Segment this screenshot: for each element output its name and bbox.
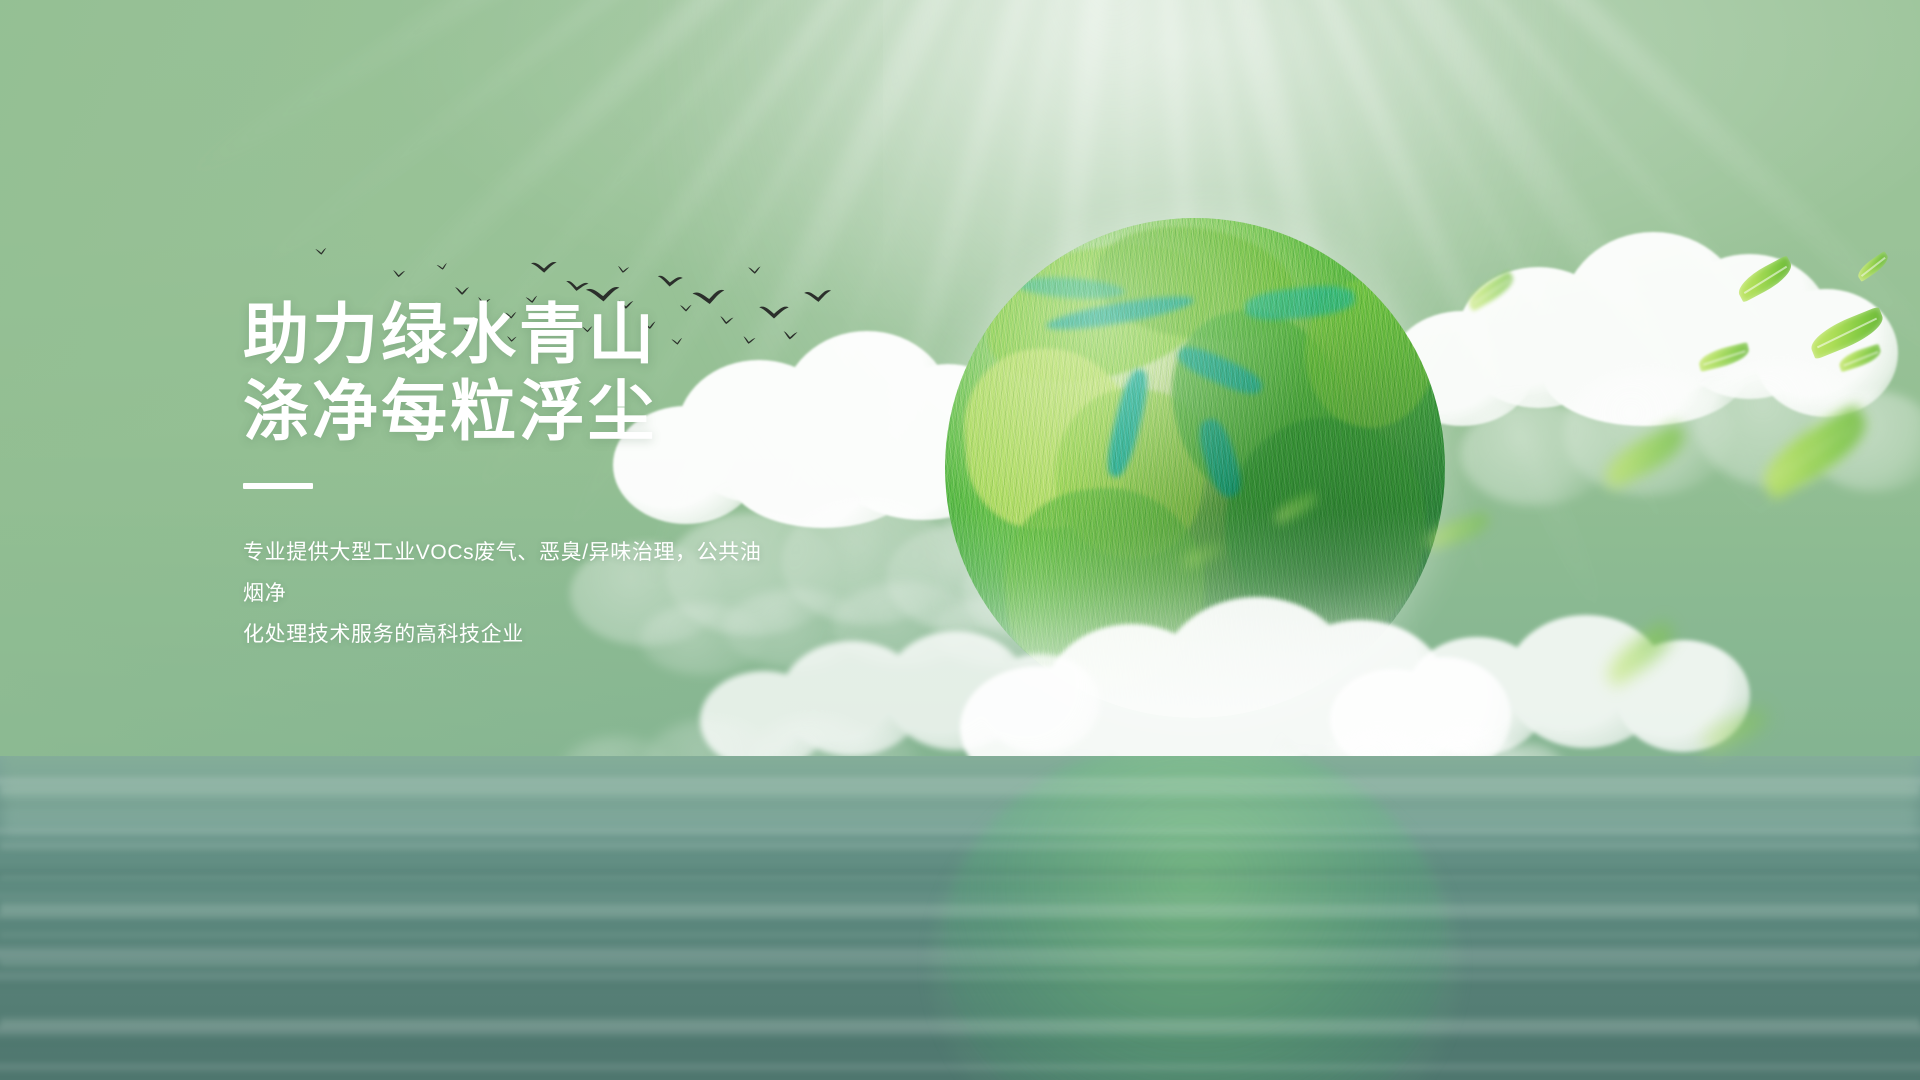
reflection-ripple	[0, 931, 1920, 939]
water-ripple	[0, 801, 1920, 809]
reflection-ripple	[0, 1015, 1920, 1031]
headline-line-1: 助力绿水青山	[243, 296, 1003, 373]
page-title: 助力绿水青山 涤净每粒浮尘	[243, 296, 1003, 449]
hero-copy: 助力绿水青山 涤净每粒浮尘 专业提供大型工业VOCs废气、恶臭/异味治理，公共油…	[243, 296, 1003, 656]
water-ripple	[0, 970, 1920, 982]
water-ripple	[0, 1041, 1920, 1049]
reflection-ripple	[0, 840, 1920, 852]
subtitle-line-1: 专业提供大型工业VOCs废气、恶臭/异味治理，公共油烟净	[243, 533, 783, 615]
reflection-ripple	[0, 782, 1920, 798]
reflection-ripple	[0, 873, 1920, 881]
hero-banner: 助力绿水青山 涤净每粒浮尘 专业提供大型工业VOCs废气、恶臭/异味治理，公共油…	[0, 0, 1920, 1080]
water-ripple	[0, 1061, 1920, 1073]
water-ripple	[0, 827, 1920, 835]
subtitle-line-2: 化处理技术服务的高科技企业	[243, 615, 783, 656]
reflection-ripple	[0, 957, 1920, 969]
headline-line-2: 涤净每粒浮尘	[243, 373, 1003, 450]
hero-subtitle: 专业提供大型工业VOCs废气、恶臭/异味治理，公共油烟净 化处理技术服务的高科技…	[243, 533, 783, 656]
reflection-ripple	[0, 899, 1920, 919]
water-surface	[0, 756, 1920, 1080]
title-divider	[243, 483, 313, 489]
water-ripple	[0, 983, 1920, 991]
